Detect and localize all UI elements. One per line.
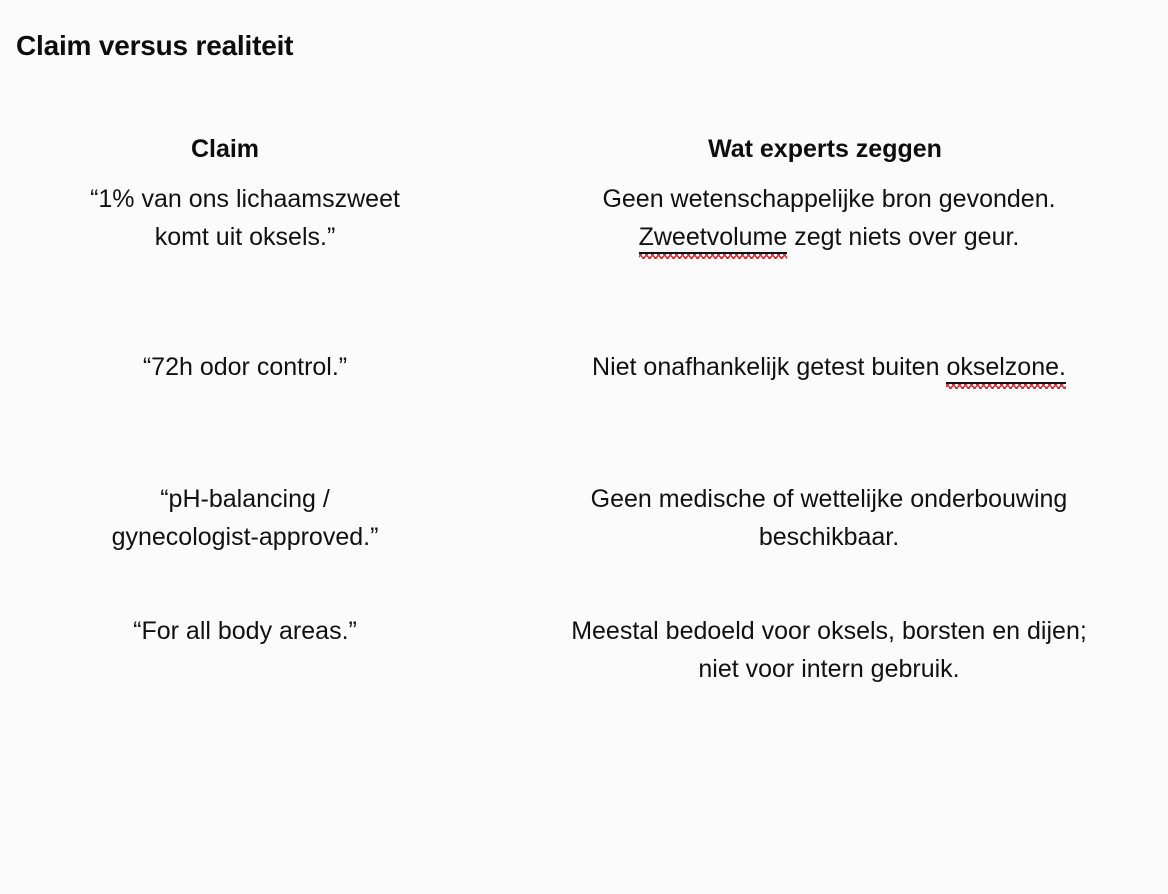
spellcheck-flagged-word: Zweetvolume <box>639 223 788 254</box>
table-row: “72h odor control.” Niet onafhankelijk g… <box>0 348 1168 480</box>
column-header-claim: Claim <box>0 118 490 180</box>
claim-text-line-1: “1% van ons lichaamszweet <box>90 185 400 213</box>
cell-expert: Niet onafhankelijk getest buiten okselzo… <box>490 348 1168 480</box>
claim-versus-reality-table: Claim Wat experts zeggen “1% van ons lic… <box>0 118 1168 780</box>
table-row: “For all body areas.” Meestal bedoeld vo… <box>0 612 1168 780</box>
claim-text-line-2: gynecologist-approved.” <box>112 523 379 551</box>
document-page: Claim versus realiteit Claim Wat experts… <box>0 0 1168 894</box>
expert-text-line-1: Geen wetenschappelijke bron gevonden. <box>602 185 1055 213</box>
column-header-experts: Wat experts zeggen <box>490 118 1168 180</box>
cell-claim: “For all body areas.” <box>0 612 490 780</box>
cell-claim: “pH-balancing / gynecologist-approved.” <box>0 480 490 612</box>
claim-text-line-2: komt uit oksels.” <box>155 223 336 251</box>
cell-expert: Geen medische of wettelijke onderbouwing… <box>490 480 1168 612</box>
expert-text-line-2: zegt niets over geur. <box>787 223 1019 251</box>
claim-text-line-1: “pH-balancing / <box>160 485 330 513</box>
spellcheck-flagged-word: okselzone. <box>946 353 1066 384</box>
table-header-row: Claim Wat experts zeggen <box>0 118 1168 180</box>
cell-claim: “1% van ons lichaamszweet komt uit oksel… <box>0 180 490 348</box>
expert-text-line-2: niet voor intern gebruik. <box>698 655 959 683</box>
claim-text-line-1: “For all body areas.” <box>133 617 357 645</box>
cell-expert: Meestal bedoeld voor oksels, borsten en … <box>490 612 1168 780</box>
table-row: “1% van ons lichaamszweet komt uit oksel… <box>0 180 1168 348</box>
cell-expert: Geen wetenschappelijke bron gevonden. Zw… <box>490 180 1168 348</box>
expert-text-line-2: beschikbaar. <box>759 523 899 551</box>
expert-text-line-1: Geen medische of wettelijke onderbouwing <box>591 485 1068 513</box>
table-row: “pH-balancing / gynecologist-approved.” … <box>0 480 1168 612</box>
expert-text-line-1: Niet onafhankelijk getest buiten <box>592 353 946 381</box>
expert-text-line-1: Meestal bedoeld voor oksels, borsten en … <box>571 617 1087 645</box>
page-title: Claim versus realiteit <box>16 30 293 62</box>
cell-claim: “72h odor control.” <box>0 348 490 480</box>
claim-text-line-1: “72h odor control.” <box>143 353 347 381</box>
